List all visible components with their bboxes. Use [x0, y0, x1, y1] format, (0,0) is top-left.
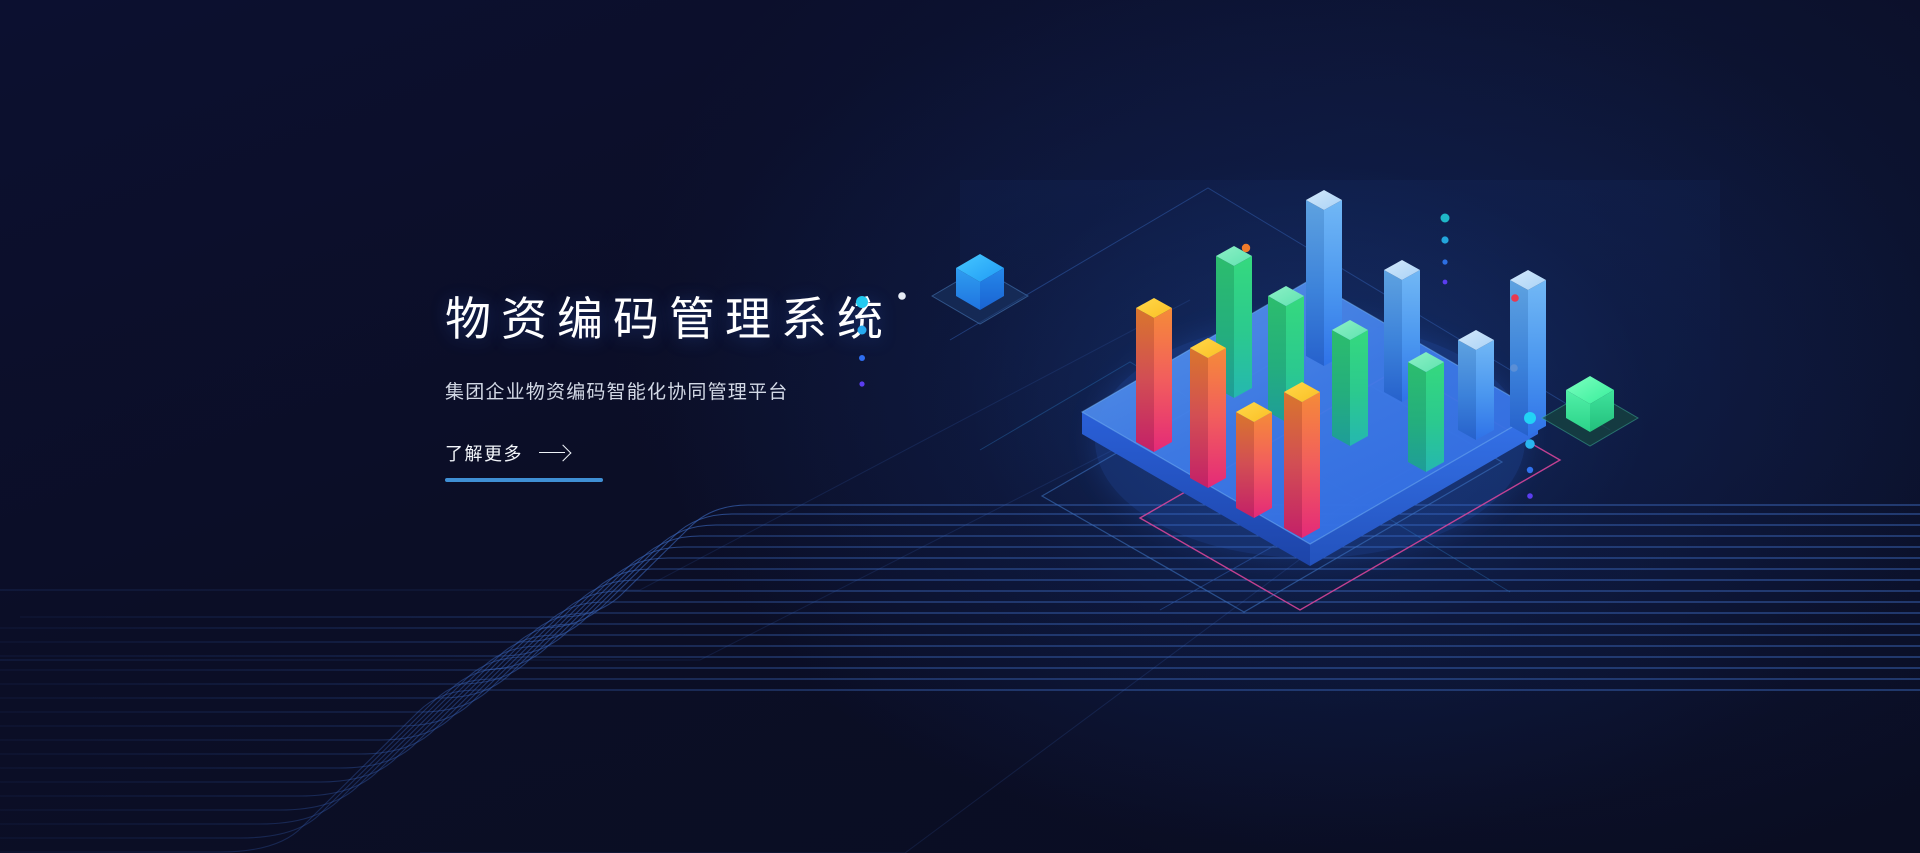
bar-warm-second	[1190, 338, 1226, 488]
hero-banner: 物资编码管理系统 集团企业物资编码智能化协同管理平台 了解更多	[0, 0, 1920, 853]
bar-warm-short	[1236, 402, 1272, 518]
circuit-line-pattern	[0, 505, 1920, 852]
steel-dot	[1510, 364, 1518, 372]
bar-warm-left-tall	[1136, 298, 1172, 452]
learn-more-underline	[445, 478, 603, 482]
learn-more-label: 了解更多	[445, 440, 523, 466]
green-cube	[1542, 376, 1638, 446]
bar-warm-front-tall	[1284, 382, 1320, 538]
red-dot	[1511, 294, 1519, 302]
orange-dot	[1242, 244, 1250, 252]
bar-green-right	[1408, 352, 1444, 472]
page-subtitle: 集团企业物资编码智能化协同管理平台	[445, 377, 1065, 404]
arrow-right-icon	[539, 445, 569, 461]
dot-column-mid	[1441, 214, 1450, 285]
bar-blue-right-b	[1458, 330, 1494, 440]
bar-green-mid	[1332, 320, 1368, 446]
learn-more-row: 了解更多	[445, 440, 603, 478]
isometric-chart-illustration	[1010, 140, 1630, 640]
learn-more-button[interactable]: 了解更多	[445, 440, 603, 482]
white-dot	[898, 292, 906, 300]
